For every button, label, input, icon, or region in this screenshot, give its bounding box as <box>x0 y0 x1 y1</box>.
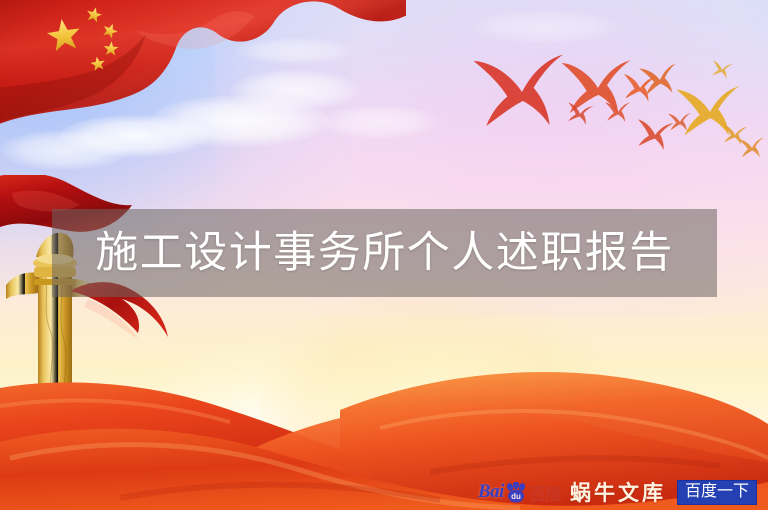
baidu-paw-icon: du <box>505 482 527 503</box>
poster-canvas: 施工设计事务所个人述职报告 Bai du 百度 蜗牛文库 百度一下 <box>0 0 768 510</box>
baidu-logo-chinese: 百度 <box>529 480 561 505</box>
baidu-logo-latin: Bai <box>478 481 504 503</box>
watermark-brand: 蜗牛文库 <box>570 477 666 507</box>
title-banner: 施工设计事务所个人述职报告 <box>52 209 717 297</box>
svg-text:du: du <box>511 492 521 501</box>
page-title: 施工设计事务所个人述职报告 <box>95 232 674 275</box>
watermark-bar: Bai du 百度 蜗牛文库 百度一下 <box>478 478 757 506</box>
baidu-logo[interactable]: Bai du 百度 <box>478 481 561 503</box>
baidu-search-button[interactable]: 百度一下 <box>677 480 757 505</box>
flying-birds-flock <box>470 40 768 170</box>
china-flag <box>0 0 406 180</box>
